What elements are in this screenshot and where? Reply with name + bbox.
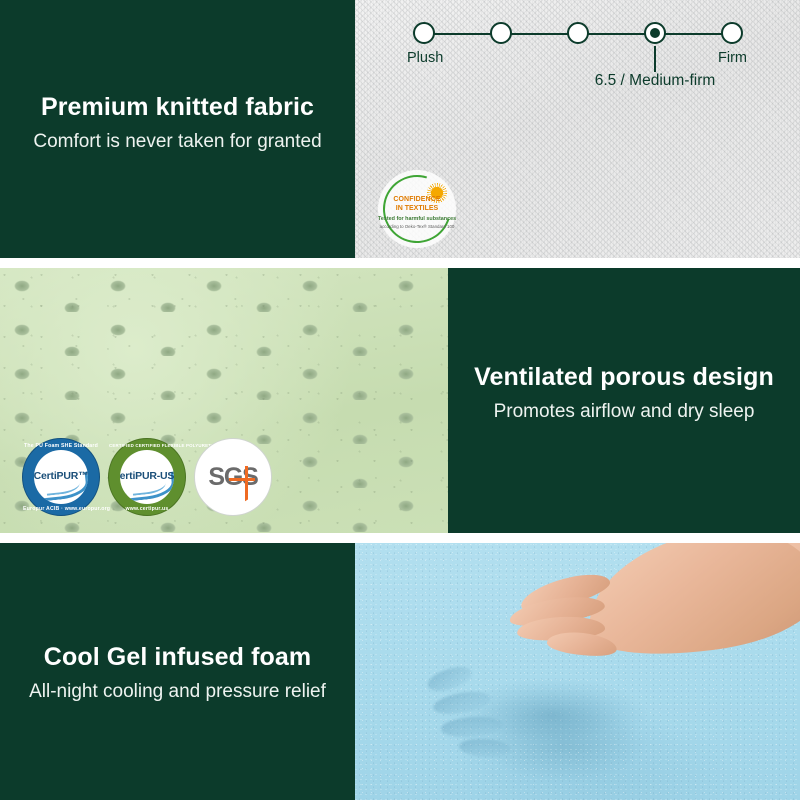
firmness-step-3[interactable] — [567, 22, 589, 44]
badge-sgs-wordmark: SGS — [208, 463, 257, 492]
firmness-step-5[interactable] — [721, 22, 743, 44]
firmness-callout-line — [654, 46, 656, 72]
product-feature-infographic: Premium knitted fabric Comfort is never … — [0, 0, 800, 800]
firmness-callout-label: 6.5 / Medium-firm — [595, 72, 716, 90]
ventilated-subline: Promotes airflow and dry sleep — [448, 401, 800, 424]
badge-certipur-us-inner: CertiPUR-US® — [120, 450, 174, 504]
firmness-step-2[interactable] — [490, 22, 512, 44]
panel-ventilated-text: Ventilated porous design Promotes airflo… — [448, 268, 800, 533]
panel-cool-gel-text: Cool Gel infused foam All-night cooling … — [0, 543, 355, 800]
firmness-scale: Plush Firm 6.5 / Medium-firm — [413, 22, 743, 46]
ventilated-headline: Ventilated porous design — [448, 363, 800, 392]
oeko-tex-line3: Tested for harmful substances — [378, 216, 456, 222]
panel-knitted-fabric-photo: Plush Firm 6.5 / Medium-firm CONFIDENCE … — [355, 0, 800, 258]
badge-certipur-us-ring-bottom: www.certipur.us — [109, 506, 185, 512]
firmness-label-plush: Plush — [407, 50, 443, 66]
oeko-tex-line4: according to Oeko-Tex® Standard 100 — [378, 224, 456, 229]
premium-fabric-subline: Comfort is never taken for granted — [0, 131, 355, 154]
firmness-label-firm: Firm — [718, 50, 747, 66]
badge-certipur-us: CERTIFIED CERTIFIED FLEXIBLE POLYURETHAN… — [108, 438, 186, 516]
oeko-tex-line2: IN TEXTILES — [378, 205, 456, 212]
oeko-tex-line1: CONFIDENCE — [378, 196, 456, 203]
sgs-vertical-bar-icon — [245, 466, 248, 504]
badge-certipur-us-ring-top: CERTIFIED CERTIFIED FLEXIBLE POLYURETHAN… — [109, 443, 185, 448]
badge-certipur: The PU Foam SHE Standard Europur ACIB · … — [22, 438, 100, 516]
firmness-step-4-selected[interactable] — [644, 22, 666, 44]
badge-certipur-ring-top: The PU Foam SHE Standard — [23, 443, 99, 449]
cool-gel-subline: All-night cooling and pressure relief — [0, 681, 355, 704]
panel-gel-foam-photo — [355, 543, 800, 800]
sgs-horizontal-bar-icon — [229, 478, 255, 481]
hand-photo — [495, 543, 800, 693]
badge-certipur-ring-bottom: Europur ACIB · www.europur.org — [23, 506, 99, 512]
firmness-step-1[interactable] — [413, 22, 435, 44]
badge-certipur-us-wordmark: CertiPUR-US® — [120, 470, 174, 482]
certification-badge-row: The PU Foam SHE Standard Europur ACIB · … — [22, 438, 272, 516]
cool-gel-text-block: Cool Gel infused foam All-night cooling … — [0, 643, 355, 704]
badge-certipur-inner: CertiPUR™ — [34, 450, 88, 504]
ventilated-text-block: Ventilated porous design Promotes airflo… — [448, 363, 800, 424]
premium-fabric-text-block: Premium knitted fabric Comfort is never … — [0, 93, 355, 154]
badge-certipur-wordmark: CertiPUR™ — [34, 470, 88, 482]
oeko-tex-badge: CONFIDENCE IN TEXTILES Tested for harmfu… — [378, 170, 456, 248]
badge-sgs-inner: SGS — [206, 450, 260, 504]
cool-gel-headline: Cool Gel infused foam — [0, 643, 355, 672]
premium-fabric-headline: Premium knitted fabric — [0, 93, 355, 122]
panel-premium-fabric-text: Premium knitted fabric Comfort is never … — [0, 0, 355, 258]
badge-sgs: SGS — [194, 438, 272, 516]
